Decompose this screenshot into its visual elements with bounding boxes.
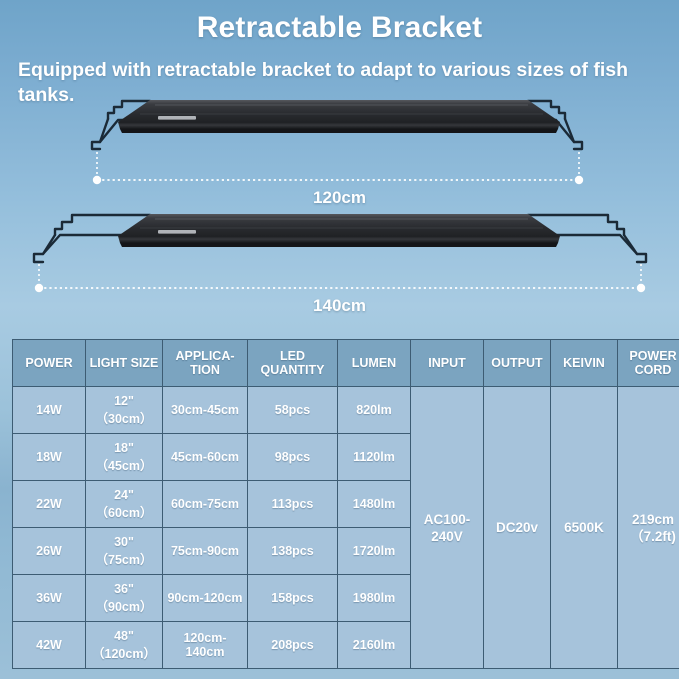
page-title: Retractable Bracket (0, 11, 679, 45)
column-header-keivin: KEIVIN (551, 340, 618, 387)
cell-power: 26W (13, 528, 86, 575)
dimension-label-extended: 140cm (0, 296, 679, 316)
infographic-page: Retractable Bracket Equipped with retrac… (0, 0, 679, 679)
column-header-light-size: LIGHT SIZE (86, 340, 163, 387)
light-fixture-body (118, 100, 560, 133)
cell-led-quantity: 158pcs (248, 575, 338, 622)
brand-label-extended (158, 230, 196, 234)
cell-light-size: 36" （90cm） (86, 575, 163, 622)
table-header-row: POWER LIGHT SIZE APPLICA-TION LED QUANTI… (13, 340, 679, 387)
cell-power: 14W (13, 387, 86, 434)
cell-led-quantity: 113pcs (248, 481, 338, 528)
cell-lumen: 1980lm (338, 575, 411, 622)
cell-light-size: 12" （30cm） (86, 387, 163, 434)
column-header-power: POWER (13, 340, 86, 387)
cell-lumen: 1480lm (338, 481, 411, 528)
cell-light-size: 30" （75cm） (86, 528, 163, 575)
cell-led-quantity: 138pcs (248, 528, 338, 575)
column-header-input: INPUT (411, 340, 484, 387)
column-header-power-cord: POWER CORD (618, 340, 679, 387)
cell-output: DC20v (484, 387, 551, 669)
cell-light-size: 24" （60cm） (86, 481, 163, 528)
cell-application: 30cm-45cm (163, 387, 248, 434)
cell-power-cord: 219cm （7.2ft) (618, 387, 679, 669)
dimension-line-140 (35, 264, 645, 292)
retracted-bracket-illustration (0, 96, 679, 196)
cell-light-size: 48" （120cm） (86, 622, 163, 669)
light-fixture-body-extended (118, 214, 560, 247)
column-header-output: OUTPUT (484, 340, 551, 387)
column-header-application: APPLICA-TION (163, 340, 248, 387)
table-row: 14W 12" （30cm） 30cm-45cm 58pcs 820lm AC1… (13, 387, 679, 434)
cell-led-quantity: 58pcs (248, 387, 338, 434)
cell-application: 75cm-90cm (163, 528, 248, 575)
cell-power: 36W (13, 575, 86, 622)
extended-bracket-illustration (0, 204, 679, 304)
cell-lumen: 1120lm (338, 434, 411, 481)
column-header-lumen: LUMEN (338, 340, 411, 387)
brand-label (158, 116, 196, 120)
cell-application: 90cm-120cm (163, 575, 248, 622)
cell-lumen: 1720lm (338, 528, 411, 575)
cell-power: 18W (13, 434, 86, 481)
cell-keivin: 6500K (551, 387, 618, 669)
cell-application: 60cm-75cm (163, 481, 248, 528)
cell-lumen: 820lm (338, 387, 411, 434)
cell-lumen: 2160lm (338, 622, 411, 669)
cell-application: 120cm-140cm (163, 622, 248, 669)
cell-light-size: 18" （45cm） (86, 434, 163, 481)
column-header-led-quantity: LED QUANTITY (248, 340, 338, 387)
cell-led-quantity: 208pcs (248, 622, 338, 669)
cell-led-quantity: 98pcs (248, 434, 338, 481)
cell-input: AC100-240V (411, 387, 484, 669)
cell-application: 45cm-60cm (163, 434, 248, 481)
specification-table: POWER LIGHT SIZE APPLICA-TION LED QUANTI… (12, 339, 679, 669)
cell-power: 42W (13, 622, 86, 669)
dimension-line-120 (93, 152, 583, 184)
cell-power: 22W (13, 481, 86, 528)
